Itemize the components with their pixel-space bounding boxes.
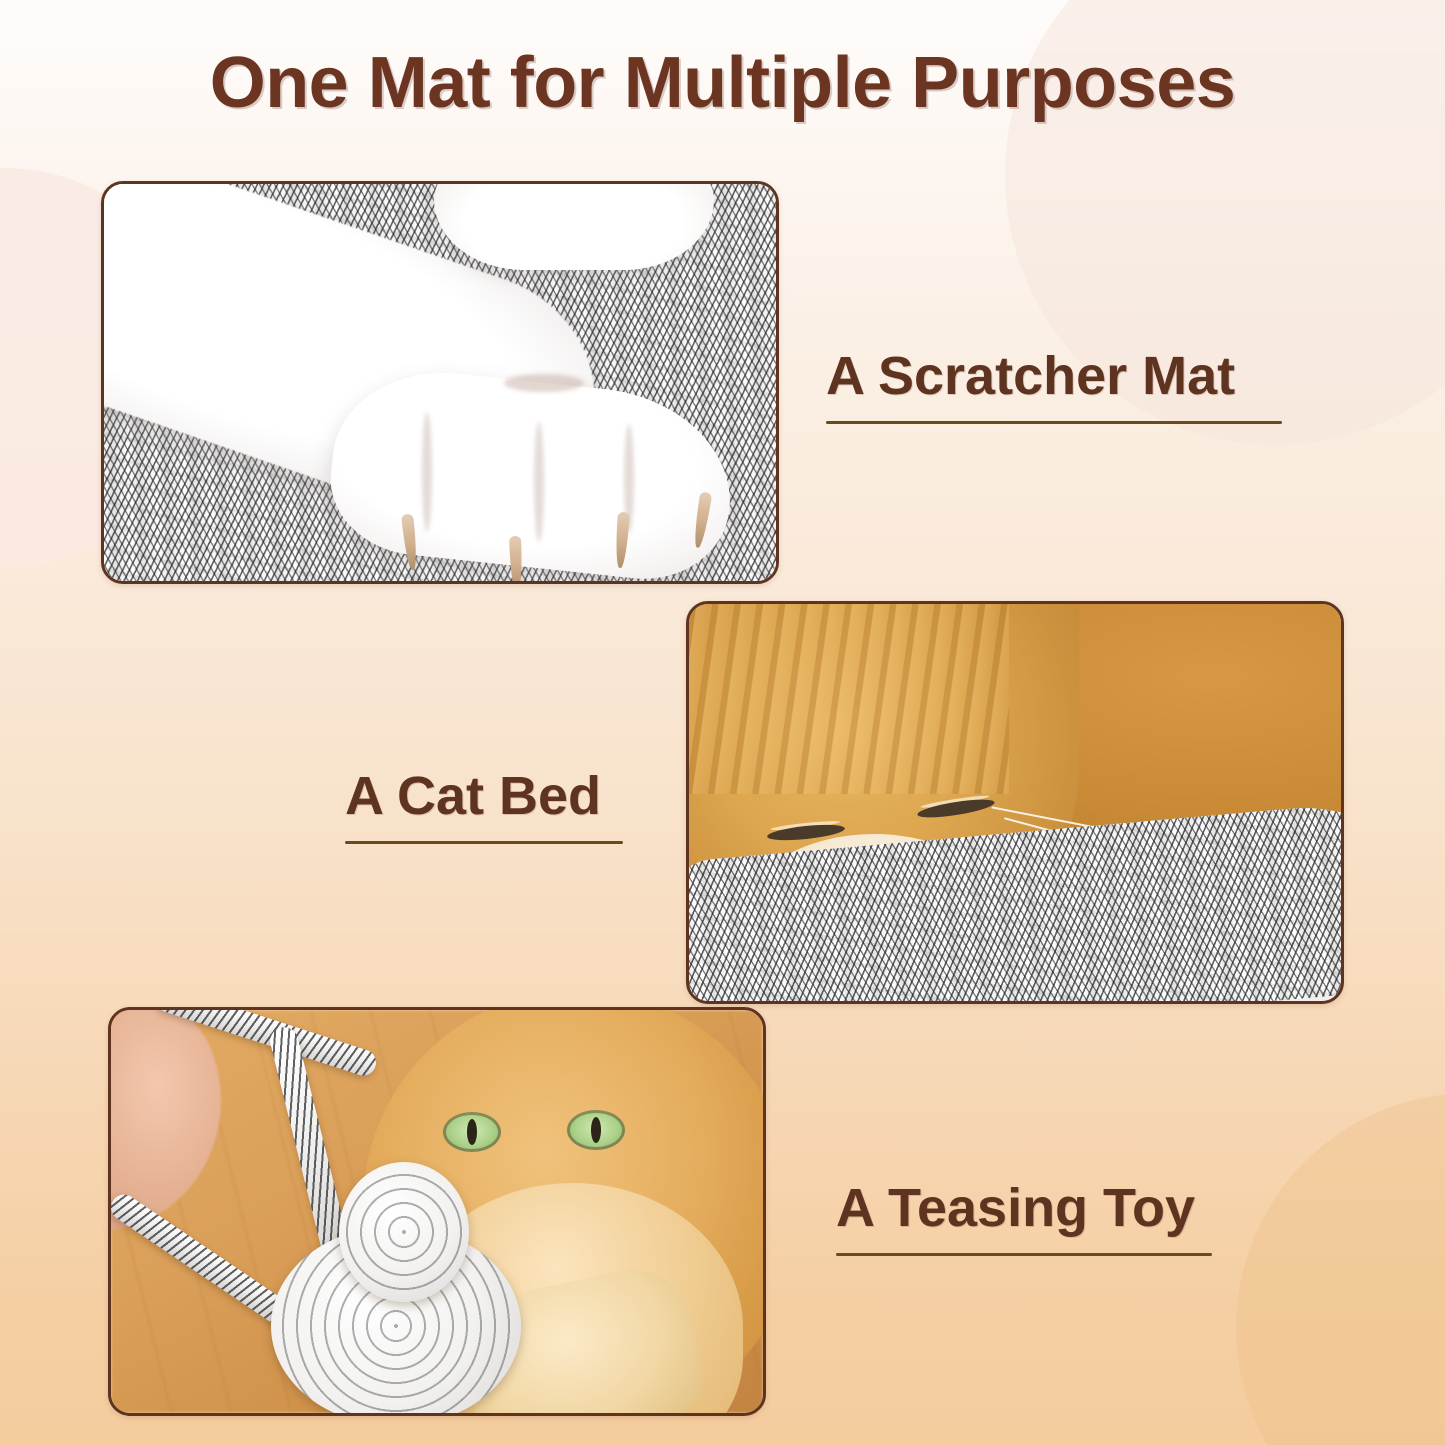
photo-cat-bed-content xyxy=(689,604,1341,1001)
infographic-canvas: One Mat for Multiple Purposes xyxy=(0,0,1445,1445)
photo-scratcher-mat-content xyxy=(104,184,776,581)
photo-cat-bed xyxy=(686,601,1344,1004)
photo-teasing-toy-content xyxy=(111,1010,763,1413)
label-scratcher-mat-text: A Scratcher Mat xyxy=(826,348,1282,405)
label-teasing-toy: A Teasing Toy xyxy=(836,1180,1212,1256)
toe-split-upper xyxy=(504,374,584,392)
toe-split-1 xyxy=(422,412,432,532)
photo-teasing-toy xyxy=(108,1007,766,1416)
cat-eye-right-toy xyxy=(567,1110,625,1150)
cat-eye-left-toy xyxy=(443,1112,501,1152)
cat-second-paw xyxy=(434,184,714,270)
label-cat-bed-underline xyxy=(345,841,623,844)
label-teasing-toy-text: A Teasing Toy xyxy=(836,1180,1212,1237)
photo-scratcher-mat xyxy=(101,181,779,584)
label-scratcher-mat: A Scratcher Mat xyxy=(826,348,1282,424)
label-teasing-toy-underline xyxy=(836,1253,1212,1256)
label-cat-bed: A Cat Bed xyxy=(345,768,623,844)
label-cat-bed-text: A Cat Bed xyxy=(345,768,623,825)
cat-claw-2 xyxy=(509,536,523,581)
decorative-circle-bottom-right xyxy=(1236,1093,1445,1445)
label-scratcher-mat-underline xyxy=(826,421,1282,424)
cat-forehead-stripes xyxy=(689,604,1009,794)
toe-split-2 xyxy=(534,422,544,542)
rope-toy-knot xyxy=(339,1162,469,1302)
page-title: One Mat for Multiple Purposes xyxy=(0,46,1445,122)
